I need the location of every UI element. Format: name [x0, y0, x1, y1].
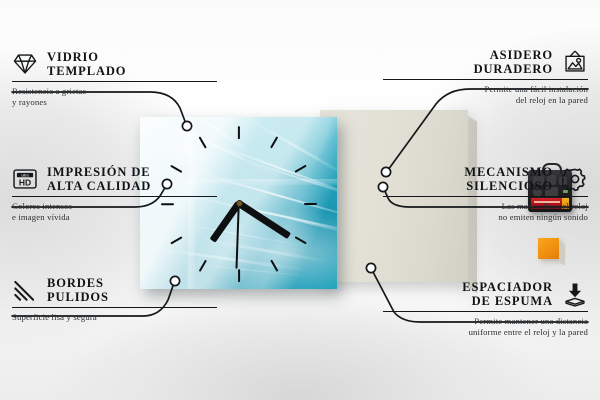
feature-description: Resistencia a grietas y rayones — [12, 86, 217, 107]
foam-spacer — [538, 238, 559, 259]
feature-title: IMPRESIÓN DE ALTA CALIDAD — [47, 165, 151, 193]
feature-title: VIDRIO TEMPLADO — [47, 50, 126, 78]
divider — [12, 81, 217, 82]
divider — [383, 311, 588, 312]
divider — [383, 196, 588, 197]
divider — [12, 307, 217, 308]
feature-description: Permite mantener una distancia uniforme … — [383, 316, 588, 337]
minute-hand — [237, 200, 291, 238]
wall-frame-icon — [562, 49, 588, 75]
press-down-icon — [562, 281, 588, 307]
feature-impresion-alta-calidad: ultra HD IMPRESIÓN DE ALTA CALIDAD Color… — [12, 165, 217, 223]
clock-tick — [170, 236, 182, 244]
divider — [383, 79, 588, 80]
feature-description: Colores intensos e imagen vívida — [12, 201, 217, 222]
feature-bordes-pulidos: BORDES PULIDOS Superficie lisa y segura — [12, 276, 217, 323]
ultra-hd-icon: ultra HD — [12, 166, 38, 192]
polished-edges-icon — [12, 277, 38, 303]
feature-title: ESPACIADOR DE ESPUMA — [462, 280, 553, 308]
feature-header: BORDES PULIDOS — [12, 276, 217, 304]
clock-tick — [294, 164, 306, 172]
gear-icon — [562, 166, 588, 192]
feature-header: MECANISMO SILENCIOSO — [383, 165, 588, 193]
clock-tick — [237, 269, 239, 282]
feature-description: Permite una fácil instalación del reloj … — [383, 84, 588, 105]
feature-title: ASIDERO DURADERO — [474, 48, 553, 76]
feature-espaciador-de-espuma: ESPACIADOR DE ESPUMA Permite mantener un… — [383, 280, 588, 338]
feature-header: ultra HD IMPRESIÓN DE ALTA CALIDAD — [12, 165, 217, 193]
feature-title: BORDES PULIDOS — [47, 276, 109, 304]
feature-header: VIDRIO TEMPLADO — [12, 50, 217, 78]
svg-text:HD: HD — [19, 178, 31, 188]
clock-tick — [270, 136, 278, 148]
feature-description: Superficie lisa y segura — [12, 312, 217, 323]
feature-description: Las manecillas del reloj no emiten ningú… — [383, 201, 588, 222]
divider — [12, 196, 217, 197]
feature-header: ESPACIADOR DE ESPUMA — [383, 280, 588, 308]
clock-hub — [236, 200, 243, 207]
feature-title: MECANISMO SILENCIOSO — [464, 165, 553, 193]
feature-header: ASIDERO DURADERO — [383, 48, 588, 76]
diamond-icon — [12, 51, 38, 77]
feature-mecanismo-silencioso: MECANISMO SILENCIOSO Las manecillas del … — [383, 165, 588, 223]
clock-tick — [237, 126, 239, 139]
feature-vidrio-templado: VIDRIO TEMPLADO Resistencia a grietas y … — [12, 50, 217, 108]
clock-tick — [304, 203, 317, 205]
feather-streak — [201, 238, 330, 264]
infographic-canvas: VIDRIO TEMPLADO Resistencia a grietas y … — [0, 0, 600, 400]
feather-streak — [243, 117, 337, 178]
feature-asidero-duradero: ASIDERO DURADERO Permite una fácil insta… — [383, 48, 588, 106]
